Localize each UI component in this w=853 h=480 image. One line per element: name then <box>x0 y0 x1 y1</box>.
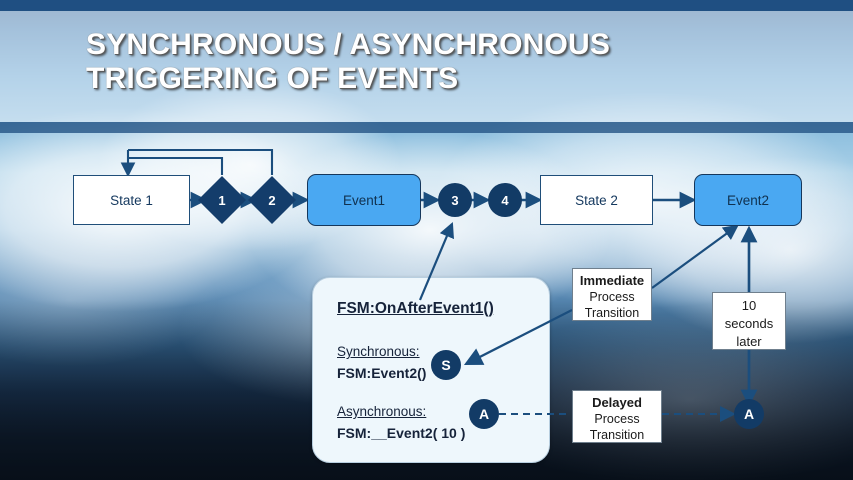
immediate-note-line2: Transition <box>585 306 639 320</box>
immediate-note-title: Immediate <box>580 273 644 288</box>
sync-marker-s[interactable]: S <box>431 350 461 380</box>
annotation-layer: S A A Immediate Process Transition Delay… <box>0 0 853 480</box>
delay-note-line3: later <box>736 334 761 349</box>
async-marker-a-label: A <box>479 406 489 422</box>
delayed-note-line2: Transition <box>590 428 644 442</box>
sync-marker-s-label: S <box>441 357 450 373</box>
async-marker-a[interactable]: A <box>469 399 499 429</box>
slide-canvas: SYNCHRONOUS / ASYNCHRONOUS TRIGGERING OF… <box>0 0 853 480</box>
async-target-marker-a[interactable]: A <box>734 399 764 429</box>
delay-duration-note: 10 seconds later <box>712 292 786 350</box>
immediate-note-line1: Process <box>589 290 634 304</box>
delayed-note-title: Delayed <box>592 395 642 410</box>
async-target-marker-a-label: A <box>744 406 754 422</box>
delayed-transition-note: Delayed Process Transition <box>572 390 662 443</box>
delay-note-line2: seconds <box>725 316 773 331</box>
delayed-note-line1: Process <box>594 412 639 426</box>
immediate-transition-note: Immediate Process Transition <box>572 268 652 321</box>
delay-note-line1: 10 <box>742 298 756 313</box>
